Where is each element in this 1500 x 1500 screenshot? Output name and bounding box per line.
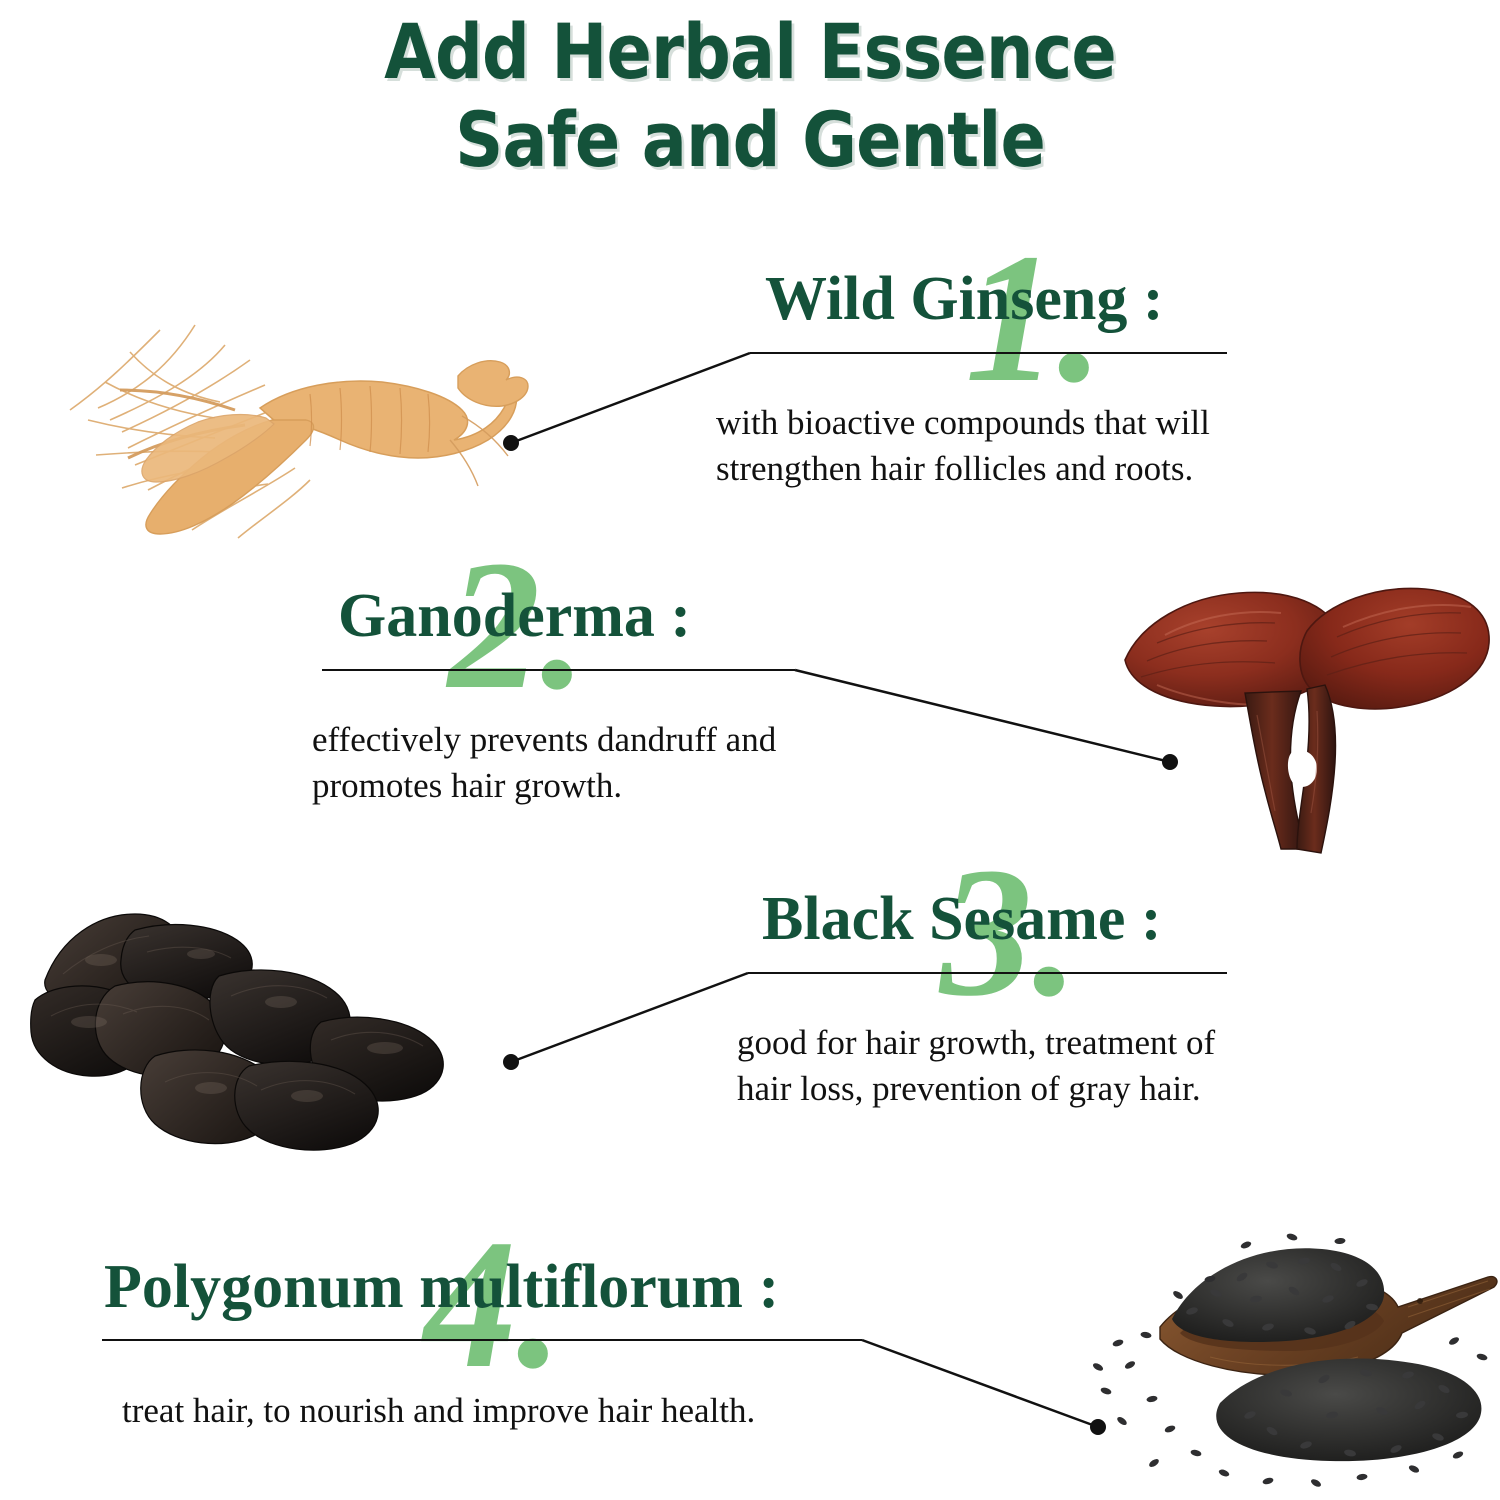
leader-line-1 (511, 353, 750, 443)
item-underline-4 (102, 1339, 862, 1341)
item-heading-2: Ganoderma : (338, 582, 691, 650)
dried-black-slices-image (5, 890, 485, 1180)
item-underline-2 (322, 669, 795, 671)
title-line-2: Safe and Gentle (90, 102, 1410, 178)
ganoderma-mushroom-image (1095, 565, 1495, 865)
title-line-1: Add Herbal Essence (90, 14, 1410, 90)
page-title: Add Herbal Essence Safe and Gentle (0, 14, 1500, 178)
item-description-2: effectively prevents dandruff and promot… (312, 717, 872, 809)
black-sesame-seeds-image (1010, 1215, 1500, 1500)
herbal-ingredients-infographic: Add Herbal Essence Safe and Gentle (0, 0, 1500, 1500)
item-heading-1: Wild Ginseng : (765, 265, 1164, 333)
leader-line-3 (511, 973, 748, 1062)
item-description-4: treat hair, to nourish and improve hair … (122, 1388, 942, 1434)
item-underline-3 (748, 972, 1227, 974)
wild-ginseng-root-image (10, 290, 540, 550)
item-description-3: good for hair growth, treatment of hair … (737, 1020, 1297, 1112)
leader-dot-3 (503, 1054, 519, 1070)
item-heading-4: Polygonum multiflorum : (104, 1253, 779, 1321)
item-underline-1 (750, 352, 1227, 354)
item-heading-3: Black Sesame : (762, 885, 1162, 953)
item-description-1: with bioactive compounds that will stren… (716, 400, 1276, 492)
